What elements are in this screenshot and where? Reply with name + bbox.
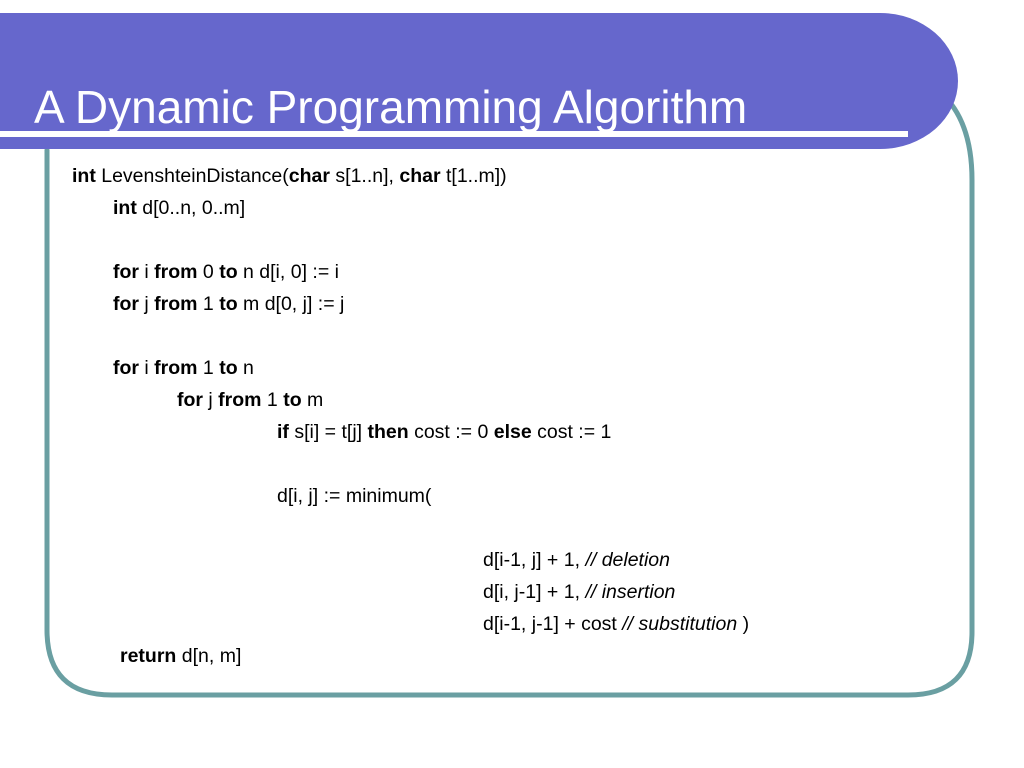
code-line-blank [0,512,1024,544]
code-line: d[i, j-1] + 1, // insertion [0,576,1024,608]
code-text: j [139,293,154,315]
code-text: d[i-1, j-1] + cost [483,613,622,635]
code-text: m [302,389,324,411]
code-line: int LevenshteinDistance(char s[1..n], ch… [0,160,1024,192]
code-comment: // deletion [585,549,670,571]
code-line: if s[i] = t[j] then cost := 0 else cost … [0,416,1024,448]
code-line-blank [0,448,1024,480]
code-keyword: from [154,357,197,379]
code-text: 1 [198,293,220,315]
code-line: for i from 0 to n d[i, 0] := i [0,256,1024,288]
code-line: return d[n, m] [0,640,1024,672]
code-line: int d[0..n, 0..m] [0,192,1024,224]
code-comment: // insertion [585,581,675,603]
code-line: for j from 1 to m d[0, j] := j [0,288,1024,320]
code-text: LevenshteinDistance( [96,165,289,187]
code-line: d[i-1, j] + 1, // deletion [0,544,1024,576]
code-keyword: else [494,421,532,443]
code-text: ) [737,613,749,635]
code-keyword: from [154,261,197,283]
code-text: s[1..n], [330,165,399,187]
code-line: for i from 1 to n [0,352,1024,384]
code-line: for j from 1 to m [0,384,1024,416]
code-text: d[i-1, j] + 1, [483,549,585,571]
code-text: 0 [198,261,220,283]
code-text: 1 [262,389,284,411]
code-keyword: from [218,389,261,411]
code-text: d[i, j] := minimum( [277,485,431,507]
code-comment: // substitution [622,613,737,635]
code-keyword: for [113,261,139,283]
code-keyword: to [219,293,237,315]
code-text: j [203,389,218,411]
code-keyword: int [72,165,96,187]
code-line-blank [0,320,1024,352]
slide-canvas: A Dynamic Programming Algorithm int Leve… [0,0,1024,768]
code-text: i [139,357,154,379]
code-keyword: for [113,357,139,379]
code-line: d[i-1, j-1] + cost // substitution ) [0,608,1024,640]
code-line-blank [0,224,1024,256]
code-text: s[i] = t[j] [289,421,368,443]
code-text: d[n, m] [176,645,241,667]
code-text: i [139,261,154,283]
code-text: t[1..m]) [441,165,507,187]
code-text: n d[i, 0] := i [238,261,339,283]
code-keyword: from [154,293,197,315]
code-keyword: for [177,389,203,411]
code-keyword: to [283,389,301,411]
code-keyword: return [120,645,176,667]
code-line: d[i, j] := minimum( [0,480,1024,512]
code-keyword: char [289,165,330,187]
code-text: 1 [198,357,220,379]
code-text: m d[0, j] := j [238,293,345,315]
code-text: n [238,357,254,379]
code-keyword: then [367,421,408,443]
pseudocode-block: int LevenshteinDistance(char s[1..n], ch… [0,160,1024,672]
code-keyword: int [113,197,137,219]
code-keyword: if [277,421,289,443]
code-text: d[0..n, 0..m] [137,197,245,219]
code-text: d[i, j-1] + 1, [483,581,585,603]
page-title: A Dynamic Programming Algorithm [34,71,914,143]
code-keyword: to [219,261,237,283]
code-keyword: to [219,357,237,379]
code-text: cost := 1 [532,421,612,443]
code-keyword: char [399,165,440,187]
code-text: cost := 0 [409,421,494,443]
code-keyword: for [113,293,139,315]
